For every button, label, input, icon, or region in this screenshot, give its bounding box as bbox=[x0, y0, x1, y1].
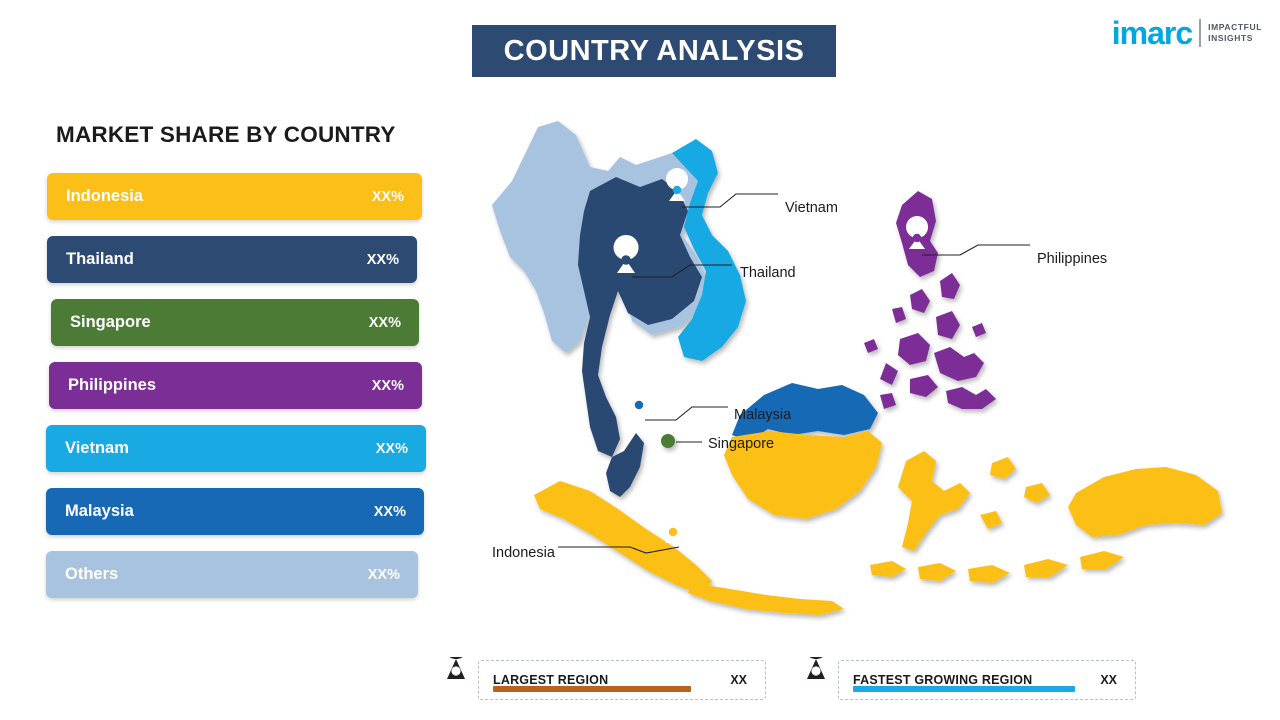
southeast-asia-map: Vietnam Philippines Thailand Malaysia Si… bbox=[440, 95, 1250, 640]
map-label-philippines: Philippines bbox=[1037, 251, 1107, 267]
map-label-thailand: Thailand bbox=[740, 265, 796, 281]
largest-region-value: XX bbox=[730, 673, 765, 687]
leader-line-malaysia bbox=[645, 407, 728, 420]
map-region-philippines[interactable] bbox=[864, 191, 996, 409]
share-row-label: Malaysia bbox=[65, 502, 134, 521]
share-row-value: XX% bbox=[372, 189, 404, 205]
map-label-singapore: Singapore bbox=[708, 436, 774, 452]
share-row-value: XX% bbox=[372, 378, 404, 394]
share-row-thailand[interactable]: Thailand XX% bbox=[47, 236, 417, 283]
share-row-label: Others bbox=[65, 565, 118, 584]
map-region-indonesia-java[interactable] bbox=[688, 583, 844, 615]
map-label-vietnam: Vietnam bbox=[785, 200, 838, 216]
fastest-region-value: XX bbox=[1100, 673, 1135, 687]
leader-line-philippines bbox=[922, 245, 1030, 255]
share-row-label: Indonesia bbox=[66, 187, 143, 206]
share-row-label: Singapore bbox=[70, 313, 151, 332]
map-pin-indonesia[interactable] bbox=[662, 510, 684, 543]
map-label-malaysia: Malaysia bbox=[734, 407, 791, 423]
logo-tagline-line2: INSIGHTS bbox=[1208, 33, 1253, 43]
page-title-banner: COUNTRY ANALYSIS bbox=[472, 25, 836, 77]
share-row-value: XX% bbox=[368, 567, 400, 583]
logo-tagline-line1: IMPACTFUL bbox=[1208, 22, 1262, 32]
logo-tagline: IMPACTFUL INSIGHTS bbox=[1208, 22, 1262, 43]
page-title: COUNTRY ANALYSIS bbox=[504, 35, 805, 68]
largest-region-label: LARGEST REGION bbox=[479, 673, 608, 687]
fastest-region-accent-bar bbox=[853, 686, 1075, 692]
fastest-region-label: FASTEST GROWING REGION bbox=[839, 673, 1032, 687]
largest-region-accent-bar bbox=[493, 686, 691, 692]
fastest-region-pin-icon bbox=[800, 657, 832, 701]
share-row-indonesia[interactable]: Indonesia XX% bbox=[47, 173, 422, 220]
share-row-others[interactable]: Others XX% bbox=[46, 551, 418, 598]
map-region-singapore[interactable] bbox=[661, 434, 675, 448]
share-row-value: XX% bbox=[367, 252, 399, 268]
share-row-vietnam[interactable]: Vietnam XX% bbox=[46, 425, 426, 472]
market-share-list: Indonesia XX% Thailand XX% Singapore XX%… bbox=[47, 173, 427, 614]
market-share-heading: MARKET SHARE BY COUNTRY bbox=[56, 122, 396, 148]
share-row-singapore[interactable]: Singapore XX% bbox=[51, 299, 419, 346]
share-row-value: XX% bbox=[376, 441, 408, 457]
share-row-malaysia[interactable]: Malaysia XX% bbox=[46, 488, 424, 535]
largest-region-box[interactable]: LARGEST REGION XX bbox=[478, 660, 766, 700]
share-row-philippines[interactable]: Philippines XX% bbox=[49, 362, 422, 409]
map-label-indonesia: Indonesia bbox=[492, 545, 555, 561]
share-row-label: Thailand bbox=[66, 250, 134, 269]
share-row-label: Philippines bbox=[68, 376, 156, 395]
share-row-value: XX% bbox=[369, 315, 401, 331]
fastest-region-box[interactable]: FASTEST GROWING REGION XX bbox=[838, 660, 1136, 700]
logo-divider bbox=[1199, 19, 1201, 47]
share-row-value: XX% bbox=[374, 504, 406, 520]
largest-region-pin-icon bbox=[440, 657, 472, 701]
imarc-logo: imarc IMPACTFUL INSIGHTS bbox=[1112, 14, 1262, 52]
map-region-indonesia-papua[interactable] bbox=[1068, 467, 1222, 537]
map-svg bbox=[440, 95, 1250, 640]
map-pin-malaysia[interactable] bbox=[628, 383, 650, 416]
map-region-indonesia-sulawesi[interactable] bbox=[898, 451, 970, 551]
map-region-indonesia-sumatra[interactable] bbox=[534, 481, 712, 595]
logo-wordmark: imarc bbox=[1112, 17, 1192, 49]
share-row-label: Vietnam bbox=[65, 439, 129, 458]
